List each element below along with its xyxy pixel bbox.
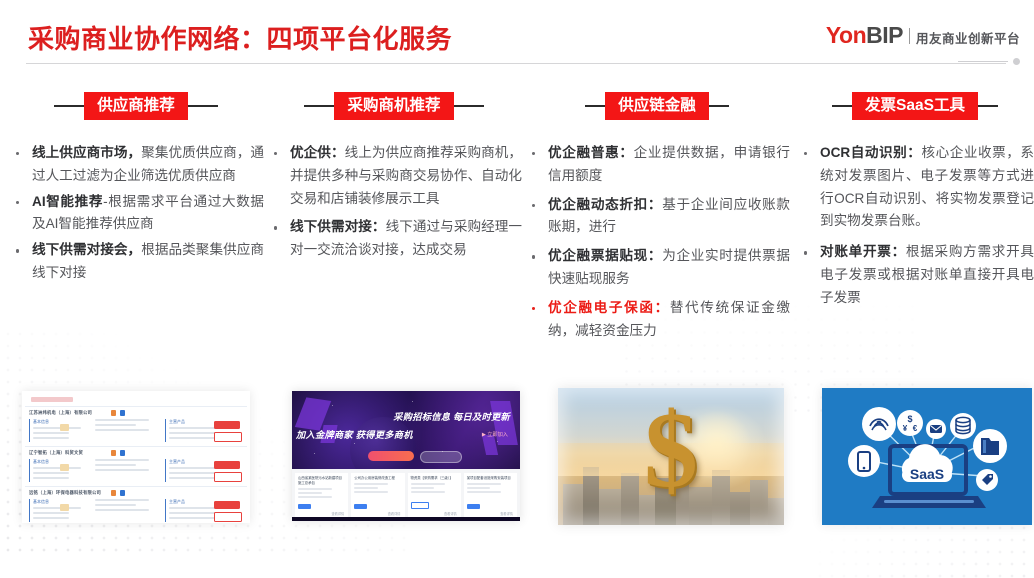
logo-bip-text: BIP — [866, 22, 903, 49]
list-item: 线下供需对接：线下通过与采购经理一对一交流洽谈对接，达成交易 — [266, 216, 522, 262]
svg-text:¥: ¥ — [903, 424, 908, 433]
list-item: 优企融动态折扣：基于企业间应收账款账期，进行 — [524, 194, 790, 240]
section-badge-procurement-opportunity[interactable]: 采购商机推荐 — [334, 92, 453, 121]
tender-footer[interactable]: 查看详情 — [388, 511, 401, 516]
supplier-badge-icons — [111, 450, 125, 456]
bullet-lead: 优企融票据贴现： — [548, 248, 662, 263]
saas-diagram: SaaS $ ¥ € — [822, 388, 1032, 525]
header-rule-accent — [958, 58, 1020, 68]
tender-title: 某项目配套设施采购安装项目 — [467, 476, 514, 481]
list-item: 线上供应商市场，聚集优质供应商，通过人工过滤为企业筛选优质供应商 — [8, 142, 264, 188]
bullet-lead: 优企融电子保函： — [548, 300, 670, 315]
list-item: 线下供需对接会，根据品类聚集供应商线下对接 — [8, 239, 264, 285]
invoice-saas-illustration: SaaS $ ¥ € — [822, 388, 1032, 525]
slide-header: 采购商业协作网络：四项平台化服务 Yon BIP 用友商业创新平台 — [0, 0, 1034, 66]
banner-cta-link[interactable]: ▶ 立即加入 — [482, 431, 508, 438]
bullet-lead: 线上供应商市场， — [32, 145, 141, 160]
badge-line-left — [54, 105, 84, 107]
decorative-globe — [350, 417, 416, 469]
supplier-badge-icons — [111, 410, 125, 416]
banner-secondary-button[interactable] — [420, 451, 462, 463]
supplier-name: 辽宁智拓（上海）科贸文贸 — [29, 450, 243, 456]
header-divider-rule — [26, 63, 1006, 64]
logo-tagline: 用友商业创新平台 — [916, 28, 1020, 47]
tender-card[interactable]: 山西省某医院污水站新建项目施工总承包 查看详情 — [295, 473, 348, 517]
section-badge-row: 供应链金融 — [524, 88, 790, 124]
node-database-icon — [950, 413, 976, 439]
table-row[interactable]: 远铭（上海）环保电器科技有限公司 基本信息 主营产品 — [25, 486, 247, 523]
service-column-supplier-recommendation: 供应商推荐 线上供应商市场，聚集优质供应商，通过人工过滤为企业筛选优质供应商 A… — [8, 88, 264, 288]
list-item: AI智能推荐-根据需求平台通过大数据及AI智能推荐供应商 — [8, 191, 264, 237]
bullet-lead: 线下供需对接： — [290, 219, 386, 234]
list-item-highlighted: 优企融电子保函：替代传统保证金缴纳，减轻资金压力 — [524, 297, 790, 343]
bullet-list: OCR自动识别：核心企业收票，系统对发票图片、电子发票等方式进行OCR自动识别、… — [796, 142, 1034, 310]
bullet-lead: 优企供： — [290, 145, 345, 160]
section-badge-invoice-saas[interactable]: 发票SaaS工具 — [852, 92, 978, 121]
vignette — [558, 388, 784, 525]
row-action-buttons — [214, 421, 242, 445]
node-mobile-icon — [848, 445, 880, 477]
saas-diagram-svg: SaaS $ ¥ € — [822, 388, 1032, 525]
tender-card[interactable]: 物资类【采购需求（三级）】 查看详情 — [408, 473, 461, 517]
invite-button[interactable] — [214, 421, 240, 429]
banner-headline-2: 加入金牌商家 获得更多商机 — [296, 427, 413, 441]
supplier-name: 江苏洲纬机电（上海）有限公司 — [29, 410, 243, 416]
section-badge-supplier-recommendation[interactable]: 供应商推荐 — [84, 92, 188, 121]
badge-line-right — [188, 105, 218, 107]
yonbip-logo: Yon BIP 用友商业创新平台 — [826, 22, 1020, 49]
bullet-list: 线上供应商市场，聚集优质供应商，通过人工过滤为企业筛选优质供应商 AI智能推荐-… — [8, 142, 264, 285]
bullet-lead: 优企融普惠： — [548, 145, 634, 160]
tender-action-button[interactable] — [298, 504, 311, 509]
tender-title: 山西省某医院污水站新建项目施工总承包 — [298, 476, 345, 486]
tender-card[interactable]: 公司办公用房装修改造工程 查看详情 — [351, 473, 404, 517]
service-column-supply-chain-finance: 供应链金融 优企融普惠：企业提供数据，申请银行信用额度 优企融动态折扣：基于企业… — [524, 88, 790, 349]
bullet-lead: 优企融动态折扣： — [548, 197, 662, 212]
supplier-badge-icons — [111, 490, 125, 496]
bullet-lead: 线下供需对接会， — [32, 242, 141, 257]
banner-headline-1: 采购招标信息 每日及时更新 — [393, 409, 510, 423]
badge-line-left — [304, 105, 334, 107]
illustration-row: 江苏洲纬机电（上海）有限公司 基本信息 主营产品 辽宁智拓（上海）科贸文贸 基本… — [0, 388, 1034, 548]
promo-banner[interactable]: 采购招标信息 每日及时更新 加入金牌商家 获得更多商机 ▶ 立即加入 — [292, 391, 520, 469]
bullet-lead: AI智能推荐 — [32, 194, 103, 209]
list-item: OCR自动识别：核心企业收票，系统对发票图片、电子发票等方式进行OCR自动识别、… — [796, 142, 1034, 233]
logo-yon-text: Yon — [826, 22, 866, 49]
banner-primary-button[interactable] — [368, 451, 414, 461]
service-column-procurement-opportunity: 采购商机推荐 优企供：线上为供应商推荐采购商机，并提供多种与采购商交易协作、自动… — [266, 88, 522, 268]
supplier-table: 江苏洲纬机电（上海）有限公司 基本信息 主营产品 辽宁智拓（上海）科贸文贸 基本… — [22, 391, 250, 523]
invite-button[interactable] — [214, 461, 240, 469]
supplier-market-list-screenshot[interactable]: 江苏洲纬机电（上海）有限公司 基本信息 主营产品 辽宁智拓（上海）科贸文贸 基本… — [22, 391, 250, 523]
tender-action-button[interactable] — [354, 504, 367, 509]
bullet-list: 优企融普惠：企业提供数据，申请银行信用额度 优企融动态折扣：基于企业间应收账款账… — [524, 142, 790, 343]
list-item: 优企融普惠：企业提供数据，申请银行信用额度 — [524, 142, 790, 188]
table-row[interactable]: 辽宁智拓（上海）科贸文贸 基本信息 主营产品 — [25, 446, 247, 486]
tender-action-button[interactable] — [411, 502, 429, 509]
tender-action-button[interactable] — [467, 504, 480, 509]
open-homepage-button[interactable] — [214, 512, 242, 522]
cloud-label: SaaS — [910, 466, 944, 482]
page-title: 采购商业协作网络：四项平台化服务 — [28, 19, 452, 56]
row-action-buttons — [214, 501, 242, 523]
list-item: 优企供：线上为供应商推荐采购商机，并提供多种与采购商交易协作、自动化交易和店铺装… — [266, 142, 522, 210]
list-item: 优企融票据贴现：为企业实时提供票据快速贴现服务 — [524, 245, 790, 291]
row-action-buttons — [214, 461, 242, 485]
node-currency-icon: $ ¥ € — [897, 410, 923, 436]
badge-line-right — [709, 105, 729, 107]
section-badge-supply-chain-finance[interactable]: 供应链金融 — [605, 92, 709, 121]
node-fingerprint-icon — [862, 407, 896, 441]
supplier-name: 远铭（上海）环保电器科技有限公司 — [29, 490, 243, 496]
invite-button[interactable] — [214, 501, 240, 509]
section-badge-row: 供应商推荐 — [8, 88, 264, 124]
node-folder-icon — [973, 429, 1007, 463]
tender-footer[interactable]: 查看详情 — [444, 511, 457, 516]
table-header-bar — [31, 397, 73, 402]
logo-divider — [909, 28, 910, 44]
badge-line-left — [832, 105, 852, 107]
tender-portal-screenshot[interactable]: 采购招标信息 每日及时更新 加入金牌商家 获得更多商机 ▶ 立即加入 山西省某医… — [292, 391, 520, 521]
service-column-invoice-saas: 发票SaaS工具 OCR自动识别：核心企业收票，系统对发票图片、电子发票等方式进… — [796, 88, 1034, 318]
tender-footer[interactable]: 查看详情 — [332, 511, 345, 516]
list-item: 对账单开票：根据采购方需求开具电子发票或根据对账单直接开具电子发票 — [796, 241, 1034, 309]
service-columns: 供应商推荐 线上供应商市场，聚集优质供应商，通过人工过滤为企业筛选优质供应商 A… — [0, 88, 1034, 388]
bullet-list: 优企供：线上为供应商推荐采购商机，并提供多种与采购商交易协作、自动化交易和店铺装… — [266, 142, 522, 262]
tender-footer[interactable]: 查看详情 — [500, 511, 513, 516]
open-homepage-button[interactable] — [214, 432, 242, 442]
tender-card[interactable]: 某项目配套设施采购安装项目 查看详情 — [464, 473, 517, 517]
node-tag-icon — [976, 469, 998, 491]
tender-title: 物资类【采购需求（三级）】 — [411, 476, 458, 481]
supply-chain-finance-image: $ — [558, 388, 784, 525]
section-badge-row: 采购商机推荐 — [266, 88, 522, 124]
node-email-icon — [926, 419, 946, 439]
bullet-lead: OCR自动识别： — [820, 145, 921, 160]
badge-line-left — [585, 105, 605, 107]
tender-title: 公司办公用房装修改造工程 — [354, 476, 401, 481]
bullet-lead: 对账单开票： — [820, 244, 906, 259]
section-badge-row: 发票SaaS工具 — [796, 88, 1034, 124]
city-skyline-illustration: $ — [558, 388, 784, 525]
svg-text:$: $ — [907, 414, 912, 424]
open-homepage-button[interactable] — [214, 472, 242, 482]
badge-line-right — [454, 105, 484, 107]
svg-text:€: € — [913, 424, 918, 433]
tender-card-grid: 山西省某医院污水站新建项目施工总承包 查看详情 公司办公用房装修改造工程 查看详… — [292, 469, 520, 517]
badge-line-right — [978, 105, 998, 107]
table-row[interactable]: 江苏洲纬机电（上海）有限公司 基本信息 主营产品 — [25, 406, 247, 446]
